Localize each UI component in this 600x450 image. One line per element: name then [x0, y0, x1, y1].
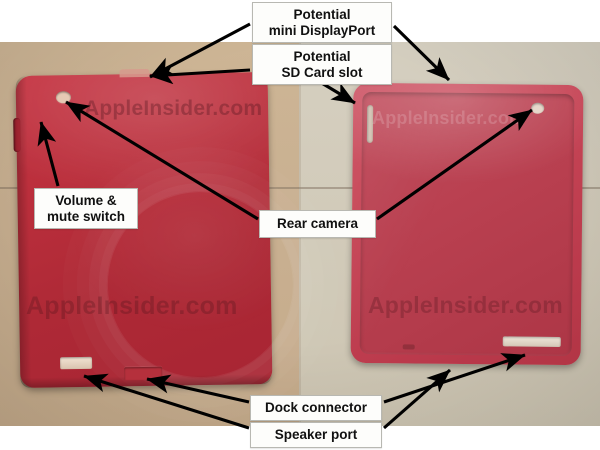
callout-line-1: Potential: [262, 7, 382, 23]
callout-line-2: SD Card slot: [262, 65, 382, 81]
case-right-inner-rim: [360, 92, 575, 356]
left-case-camera-hole: [56, 91, 71, 103]
volume-mute-switch-label: Volume & mute switch: [34, 188, 138, 229]
red-ipad-case-right: [351, 83, 584, 365]
callout-line-2: mute switch: [44, 209, 128, 225]
red-ipad-case-left: [16, 72, 273, 388]
potential-mini-displayport-label: Potential mini DisplayPort: [252, 2, 392, 43]
callout-line-1: Volume &: [44, 193, 128, 209]
left-case-volume-switch-cutout: [13, 118, 21, 152]
screenshot-root: AppleInsider.com AppleInsider.com AppleI…: [0, 0, 600, 450]
dock-connector-label: Dock connector: [250, 395, 382, 421]
callout-line-1: Dock connector: [259, 400, 373, 416]
right-case-camera-hole: [531, 103, 544, 114]
callout-line-2: mini DisplayPort: [262, 23, 382, 39]
right-case-dock-cutout: [503, 336, 561, 347]
callout-line-1: Potential: [262, 49, 382, 65]
callout-line-1: Rear camera: [268, 216, 367, 232]
left-case-top-nub: [119, 69, 149, 77]
speaker-port-label: Speaker port: [250, 422, 382, 448]
right-case-sd-slot-cutout: [367, 105, 373, 143]
rear-camera-label: Rear camera: [259, 210, 376, 238]
case-left-sheen: [16, 72, 273, 388]
left-case-dock-cutout: [124, 367, 162, 381]
right-case-speaker-cutout: [403, 344, 415, 349]
callout-line-1: Speaker port: [259, 427, 373, 443]
left-case-speaker-cutout: [60, 357, 92, 370]
potential-sd-card-slot-label: Potential SD Card slot: [252, 44, 392, 85]
